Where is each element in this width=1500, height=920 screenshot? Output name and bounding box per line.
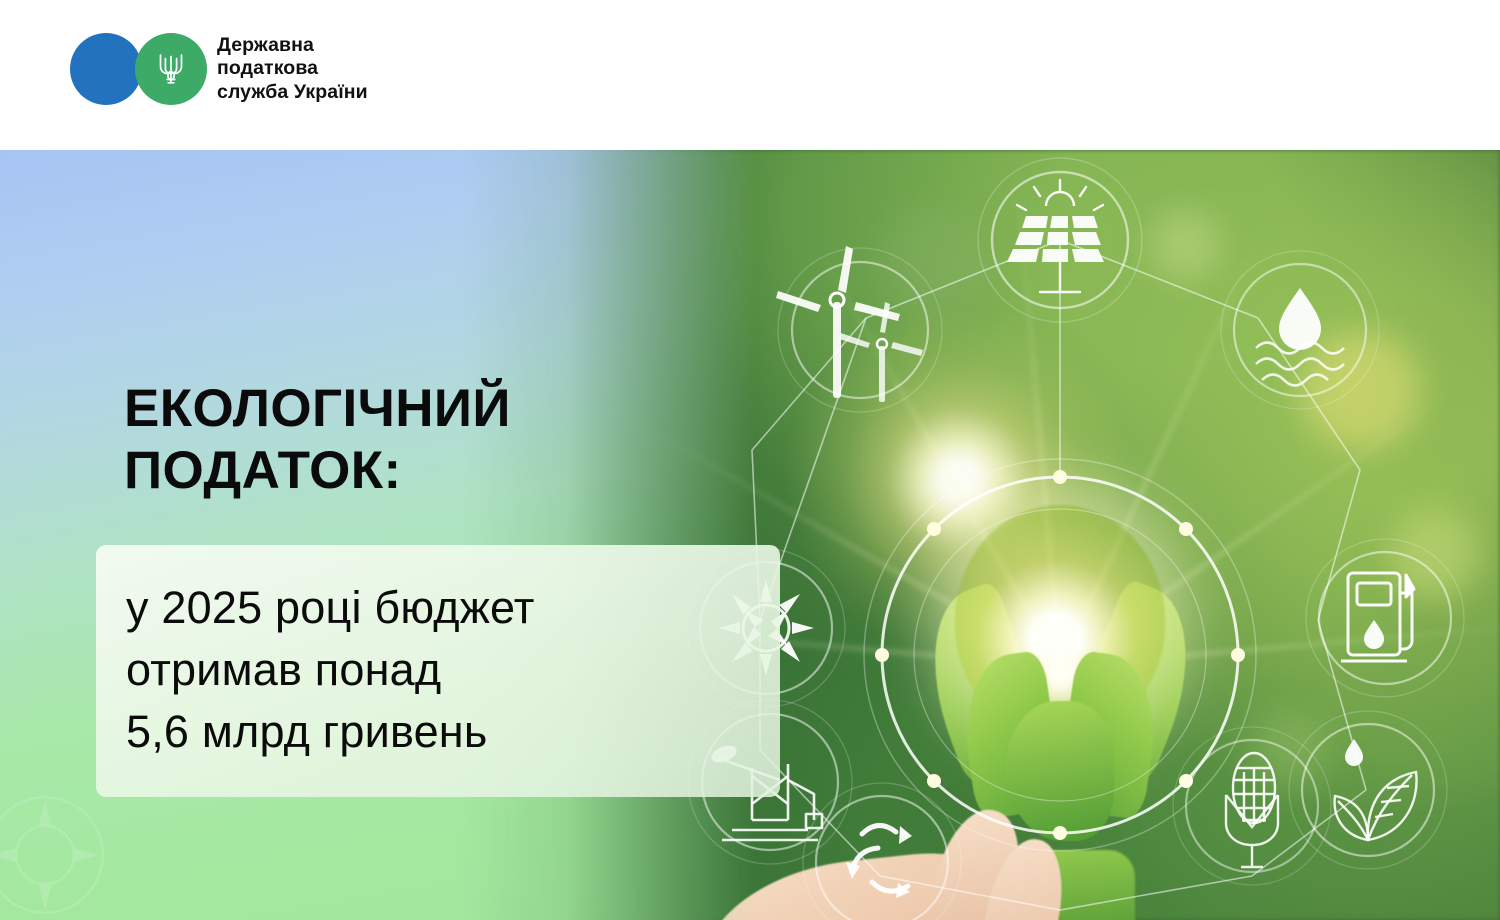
hero-photo [0, 150, 1500, 920]
fuel-pump-icon [1306, 539, 1464, 697]
leaf-icon [1289, 711, 1447, 869]
blue-circle-icon [70, 33, 142, 105]
water-drop-icon [1221, 251, 1379, 409]
eco-icon-network [0, 150, 1500, 920]
logo-text: Державна податкова служба України [217, 34, 368, 105]
statement-panel: у 2025 році бюджет отримав понад 5,6 млр… [96, 545, 780, 797]
page-title: ЕКОЛОГІЧНИЙ ПОДАТОК: [124, 378, 511, 502]
recycle-icon [803, 783, 961, 920]
green-circle-icon [135, 33, 207, 105]
corn-icon [1173, 727, 1331, 885]
tryzub-emblem-icon [154, 49, 188, 89]
infographic-canvas: Державна податкова служба України [0, 0, 1500, 920]
logo-marks [70, 33, 205, 105]
statement-text: у 2025 році бюджет отримав понад 5,6 млр… [126, 577, 750, 763]
wind-turbine-icon [776, 246, 942, 412]
organization-logo: Державна податкова служба України [70, 33, 368, 105]
header-bar: Державна податкова служба України [0, 0, 1500, 150]
